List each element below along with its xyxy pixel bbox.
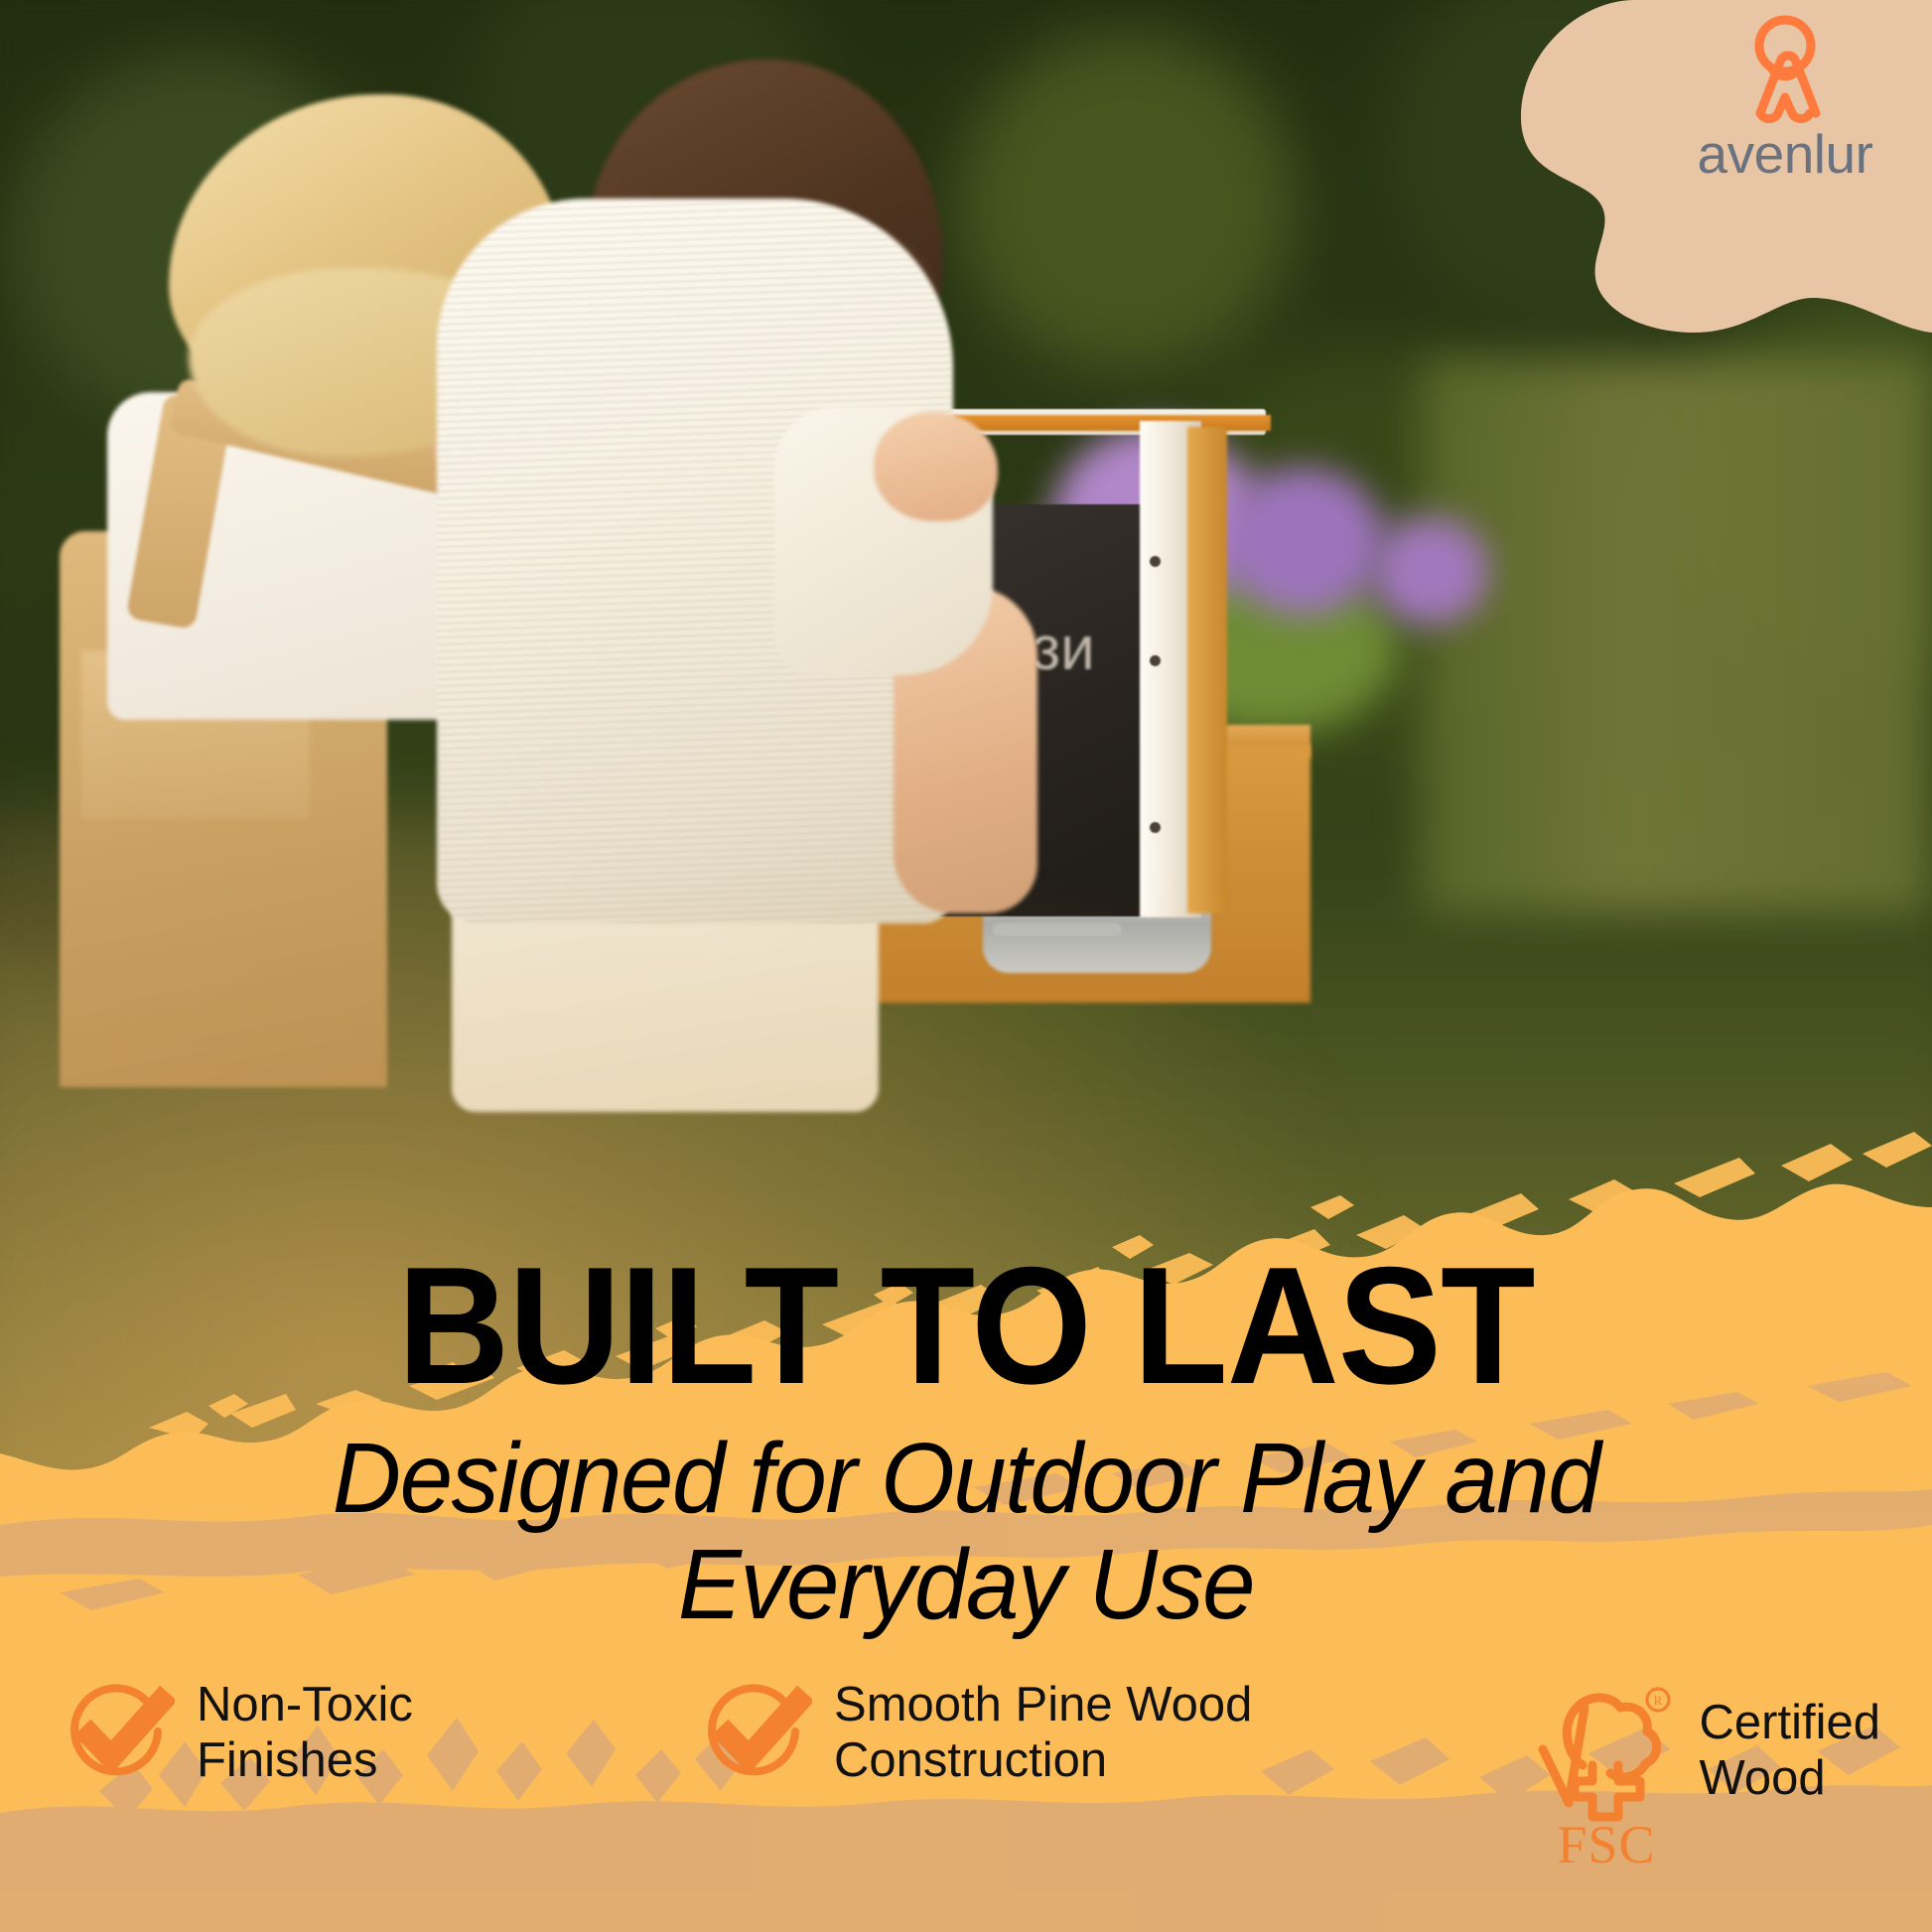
- svg-text:FSC: FSC: [1557, 1815, 1655, 1866]
- avenlur-acorn-logo-icon: [1731, 14, 1839, 123]
- page-subtitle-line1: Designed for Outdoor Play and: [153, 1426, 1779, 1532]
- feature-label: Non-Toxic Finishes: [197, 1674, 413, 1789]
- feature-smooth-pine-wood: Smooth Pine Wood Construction: [695, 1674, 1252, 1800]
- marketing-poster: ГΛΥзи: [0, 0, 1932, 1932]
- fsc-tree-icon: R FSC: [1535, 1678, 1684, 1871]
- feature-label: Certified Wood: [1700, 1674, 1880, 1807]
- page-subtitle: Designed for Outdoor Play and Everyday U…: [153, 1426, 1779, 1638]
- svg-text:R: R: [1653, 1693, 1662, 1708]
- check-circle-icon: [58, 1678, 175, 1800]
- page-subtitle-line2: Everyday Use: [153, 1532, 1779, 1638]
- feature-label: Smooth Pine Wood Construction: [834, 1674, 1252, 1789]
- feature-fsc-certified-wood: R FSC Certified Wood: [1535, 1674, 1880, 1871]
- feature-non-toxic-finishes: Non-Toxic Finishes: [58, 1674, 413, 1800]
- check-circle-icon: [695, 1678, 812, 1800]
- brand-wordmark: avenlur: [1666, 127, 1904, 182]
- page-title: BUILT TO LAST: [68, 1249, 1864, 1403]
- brand-logo-lockup[interactable]: avenlur: [1666, 14, 1904, 182]
- feature-badge-row: Non-Toxic Finishes Smooth Pine Wood Cons…: [0, 1674, 1932, 1863]
